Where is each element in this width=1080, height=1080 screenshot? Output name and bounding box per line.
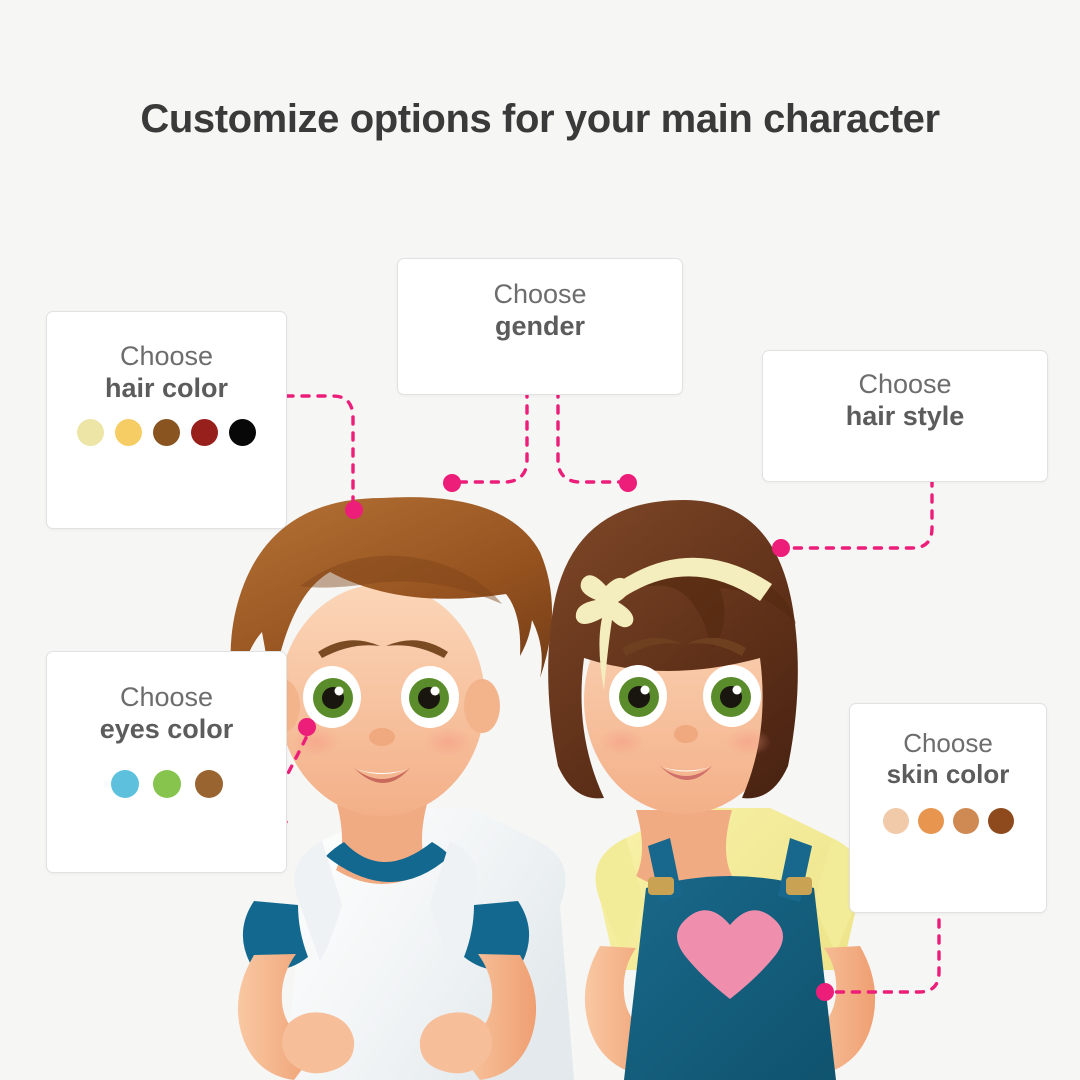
color-swatch-2[interactable] — [918, 808, 944, 834]
color-swatch-4[interactable] — [988, 808, 1014, 834]
color-swatch-1[interactable] — [111, 770, 139, 798]
skin-color-swatches — [883, 808, 1014, 834]
color-swatch-4[interactable] — [191, 419, 218, 446]
card-eyes-color[interactable]: Choose eyes color — [46, 651, 287, 873]
card-gender-line2: gender — [495, 311, 585, 343]
color-swatch-5[interactable] — [229, 419, 256, 446]
color-swatch-2[interactable] — [115, 419, 142, 446]
customization-screen: Customize options for your main characte… — [0, 0, 1080, 1080]
color-swatch-3[interactable] — [953, 808, 979, 834]
card-hair-color-line1: Choose — [120, 341, 213, 373]
color-swatch-1[interactable] — [883, 808, 909, 834]
card-eyes-color-line1: Choose — [120, 682, 213, 714]
card-gender[interactable]: Choose gender — [397, 258, 683, 395]
card-hair-style[interactable]: Choose hair style — [762, 350, 1048, 482]
character-illustration — [0, 0, 1080, 1080]
card-eyes-color-line2: eyes color — [100, 714, 234, 746]
eyes-color-swatches — [111, 770, 223, 798]
card-hair-color-line2: hair color — [105, 373, 228, 405]
card-gender-line1: Choose — [493, 279, 586, 311]
color-swatch-2[interactable] — [153, 770, 181, 798]
color-swatch-3[interactable] — [153, 419, 180, 446]
card-hair-style-line1: Choose — [858, 369, 951, 401]
hair-color-swatches — [77, 419, 256, 446]
card-skin-color[interactable]: Choose skin color — [849, 703, 1047, 913]
color-swatch-1[interactable] — [77, 419, 104, 446]
card-hair-style-line2: hair style — [846, 401, 965, 433]
card-hair-color[interactable]: Choose hair color — [46, 311, 287, 529]
card-skin-color-line2: skin color — [887, 759, 1010, 790]
girl-character — [548, 500, 875, 1080]
color-swatch-3[interactable] — [195, 770, 223, 798]
card-skin-color-line1: Choose — [903, 728, 993, 759]
